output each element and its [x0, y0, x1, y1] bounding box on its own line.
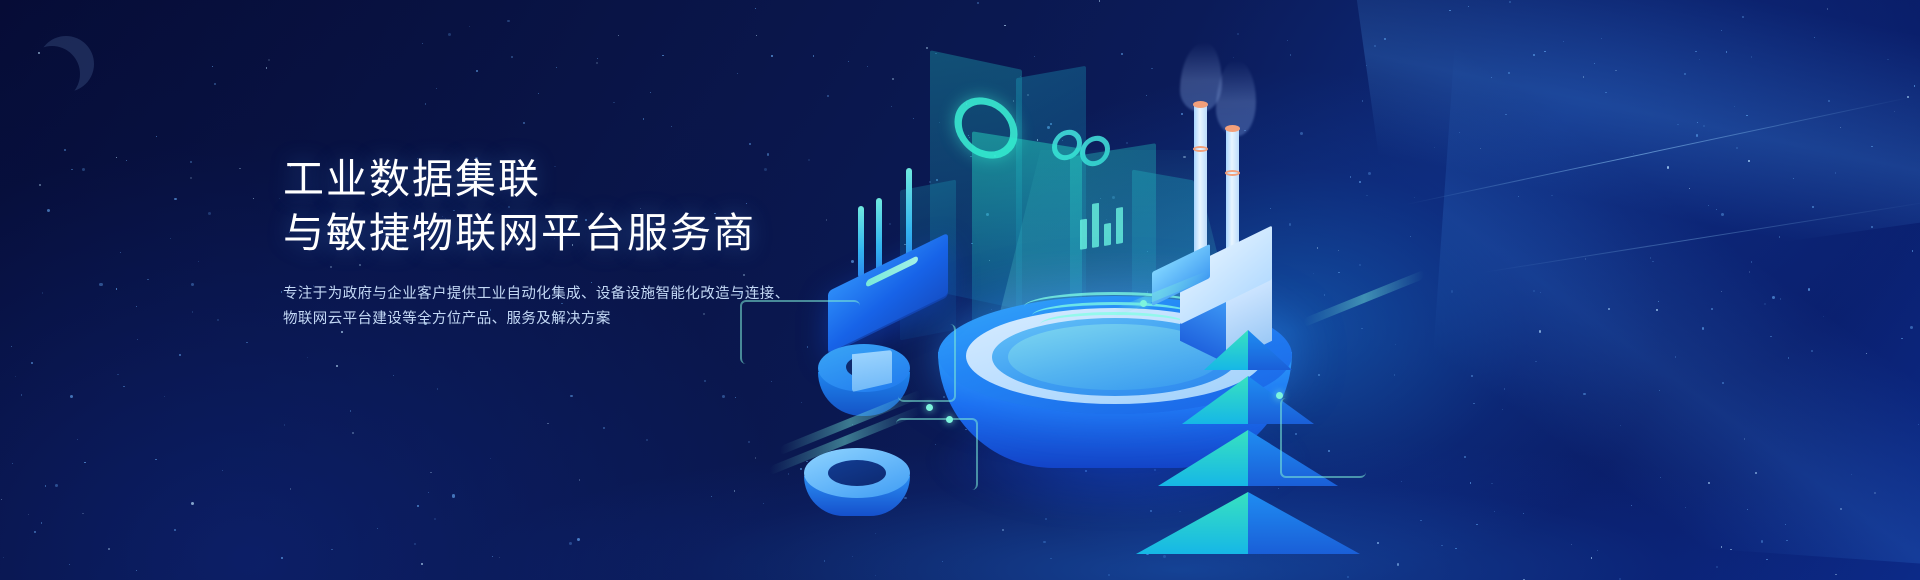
router-antenna	[858, 206, 864, 278]
wire-connection	[898, 324, 956, 402]
data-beam	[1304, 270, 1424, 327]
hero-copy: 工业数据集联 与敏捷物联网平台服务商 专注于为政府与企业客户提供工业自动化集成、…	[283, 152, 843, 332]
moon-crescent-icon	[38, 36, 94, 92]
ring-platform-hole	[828, 460, 886, 486]
subtitle-line-1: 专注于为政府与企业客户提供工业自动化集成、设备设施智能化改造与连接、	[283, 282, 803, 307]
wire-connection	[896, 418, 978, 490]
wire-node	[946, 416, 953, 423]
headline-line-2: 与敏捷物联网平台服务商	[283, 206, 843, 260]
chimney-band	[1225, 170, 1240, 176]
headline-line-1: 工业数据集联	[283, 152, 843, 206]
wire-connection	[1280, 398, 1366, 478]
hero-banner: 工业数据集联 与敏捷物联网平台服务商 专注于为政府与企业客户提供工业自动化集成、…	[0, 0, 1920, 580]
wire-node	[926, 404, 933, 411]
chimney-cap	[1193, 101, 1208, 108]
wire-node	[1140, 300, 1147, 307]
isometric-illustration	[780, 0, 1920, 580]
hero-subtitle: 专注于为政府与企业客户提供工业自动化集成、设备设施智能化改造与连接、 物联网云平…	[283, 282, 803, 332]
chimney-cap	[1225, 125, 1240, 132]
wire-node	[1276, 392, 1283, 399]
subtitle-line-2: 物联网云平台建设等全方位产品、服务及解决方案	[283, 307, 803, 332]
chimney-band	[1193, 146, 1208, 152]
